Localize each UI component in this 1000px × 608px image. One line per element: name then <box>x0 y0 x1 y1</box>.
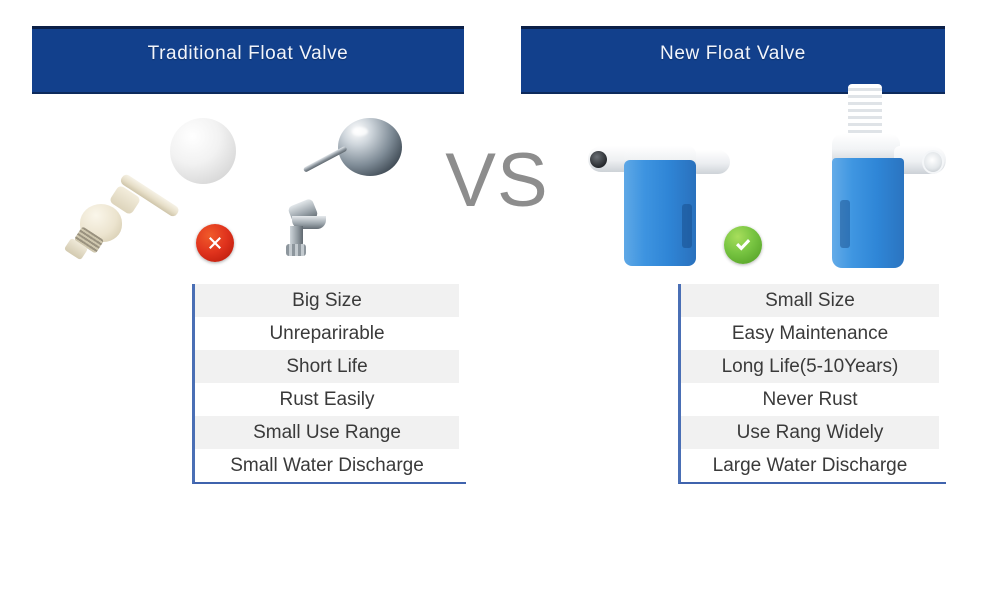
feature-row: Short Life <box>195 350 459 383</box>
blue-side-valve-slot <box>682 204 692 248</box>
feature-row: Small Water Discharge <box>195 449 459 482</box>
comparison-infographic: Traditional Float Valve New Float Valve … <box>0 0 1000 608</box>
blue-top-valve-slot <box>840 200 850 248</box>
feature-row: Easy Maintenance <box>681 317 939 350</box>
check-icon <box>724 226 762 264</box>
banner-right-title: New Float Valve <box>660 43 806 65</box>
feature-row: Unreparirable <box>195 317 459 350</box>
vs-label: VS <box>432 143 562 219</box>
metal-ball-float-valve-image <box>276 112 436 272</box>
feature-row: Long Life(5-10Years) <box>681 350 939 383</box>
metal-float-ball <box>338 118 402 176</box>
feature-row: Large Water Discharge <box>681 449 939 482</box>
feature-row: Small Use Range <box>195 416 459 449</box>
feature-row: Big Size <box>195 284 459 317</box>
blue-top-entry-float-valve-image <box>810 84 960 272</box>
plastic-float-ball <box>170 118 236 184</box>
banner-left-title: Traditional Float Valve <box>148 43 349 65</box>
feature-list-new: Small Size Easy Maintenance Long Life(5-… <box>678 284 946 484</box>
feature-row: Small Size <box>681 284 939 317</box>
blue-top-valve-thread <box>848 84 882 136</box>
feature-row: Never Rust <box>681 383 939 416</box>
cross-icon <box>196 224 234 262</box>
metal-valve-nut <box>286 244 306 256</box>
feature-list-traditional: Big Size Unreparirable Short Life Rust E… <box>192 284 466 484</box>
feature-row: Use Rang Widely <box>681 416 939 449</box>
feature-row: Rust Easily <box>195 383 459 416</box>
banner-traditional-float-valve: Traditional Float Valve <box>32 26 464 94</box>
blue-side-entry-float-valve-image <box>586 128 736 270</box>
